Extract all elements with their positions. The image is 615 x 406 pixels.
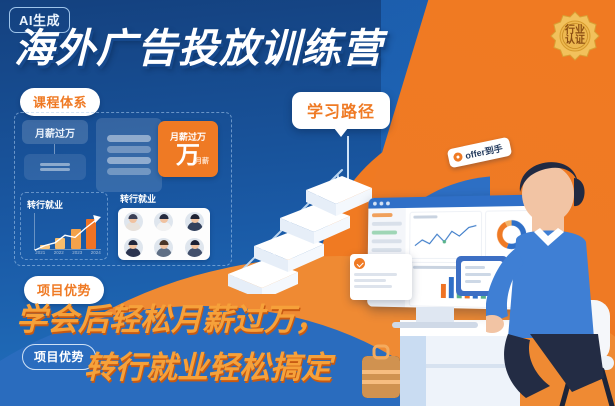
headline-line-1: 学会后轻松月薪过万， [16, 294, 326, 339]
sidebar-item[interactable] [372, 231, 398, 235]
cert-line-2: 认证 [565, 36, 585, 47]
course-node-primary: 月薪过万 [22, 120, 88, 144]
course-node-secondary [24, 154, 86, 180]
course-module-list [96, 118, 162, 192]
employment-avatars-card: 转行就业 [118, 192, 210, 260]
chart-tick-label: 2022 [54, 250, 64, 259]
page-title: 海外广告投放训练营 [14, 29, 383, 69]
avatar-hair [190, 240, 199, 245]
sidebar-item[interactable] [372, 248, 402, 252]
avatar-hair [159, 240, 168, 245]
floating-notification-card [350, 254, 412, 300]
avatars-title: 转行就业 [120, 192, 210, 205]
avatar [154, 212, 173, 231]
check-circle-icon [354, 258, 365, 269]
employment-bar-chart-card: 转行就业 2021202220232024 [20, 192, 108, 260]
chart-tick-label: 2023 [72, 250, 82, 259]
person-illustration [486, 148, 615, 406]
salary-highlight-card: 月薪过万 万 月薪 [158, 121, 218, 177]
poster-canvas: AI生成 行业 认证 海外广告投放训练营 课程体系 月薪过万 月薪过万 [0, 0, 615, 406]
module-row [107, 168, 151, 175]
avatar [124, 238, 143, 257]
avatar-body [187, 222, 202, 231]
sidebar-item[interactable] [372, 222, 402, 226]
module-row [107, 146, 151, 153]
avatar-body [156, 248, 171, 257]
avatar [185, 212, 204, 231]
window-dot [386, 201, 390, 205]
placeholder-line [40, 163, 70, 166]
avatar-hair [159, 214, 168, 219]
avatar [154, 238, 173, 257]
sidebar-item[interactable] [372, 239, 402, 243]
window-dot [380, 201, 384, 205]
chart-tick-label: 2021 [35, 250, 45, 259]
monitor-base [392, 322, 478, 328]
course-node-connector [54, 144, 55, 154]
placeholder-line [354, 279, 386, 282]
callout-label: 学习路径 [307, 104, 375, 121]
course-node-label: 月薪过万 [35, 125, 75, 140]
panel-heading [413, 266, 458, 269]
line-chart-svg [413, 221, 478, 253]
avatar [185, 238, 204, 257]
avatar [124, 212, 143, 231]
placeholder-line [354, 273, 397, 276]
avatar-hair [129, 214, 138, 219]
chart-tick-label: 2024 [91, 250, 101, 259]
avatar-body [126, 222, 141, 231]
avatar-hair [190, 214, 199, 219]
learning-path-callout: 学习路径 [292, 92, 390, 129]
window-dot [373, 201, 377, 205]
chart-title: 转行就业 [27, 198, 101, 211]
salary-card-unit: 月薪 [195, 156, 209, 166]
avatar-body [156, 222, 171, 231]
placeholder-line [354, 285, 392, 288]
chart-x-tick-labels: 2021202220232024 [31, 250, 105, 259]
certification-label: 行业 认证 [549, 10, 601, 62]
headline-line-2: 转行就业轻松搞定 [84, 342, 332, 387]
industry-certification-badge: 行业 认证 [549, 10, 601, 62]
avatar-body [187, 248, 202, 257]
avatar-hair [129, 240, 138, 245]
avatar-body [126, 248, 141, 257]
avatars-grid [118, 208, 210, 260]
module-row [107, 157, 151, 164]
panel-heading [413, 215, 437, 218]
offer-icon [453, 152, 464, 163]
module-row [107, 135, 151, 142]
placeholder-line [40, 168, 70, 171]
sidebar-item[interactable] [372, 213, 393, 217]
